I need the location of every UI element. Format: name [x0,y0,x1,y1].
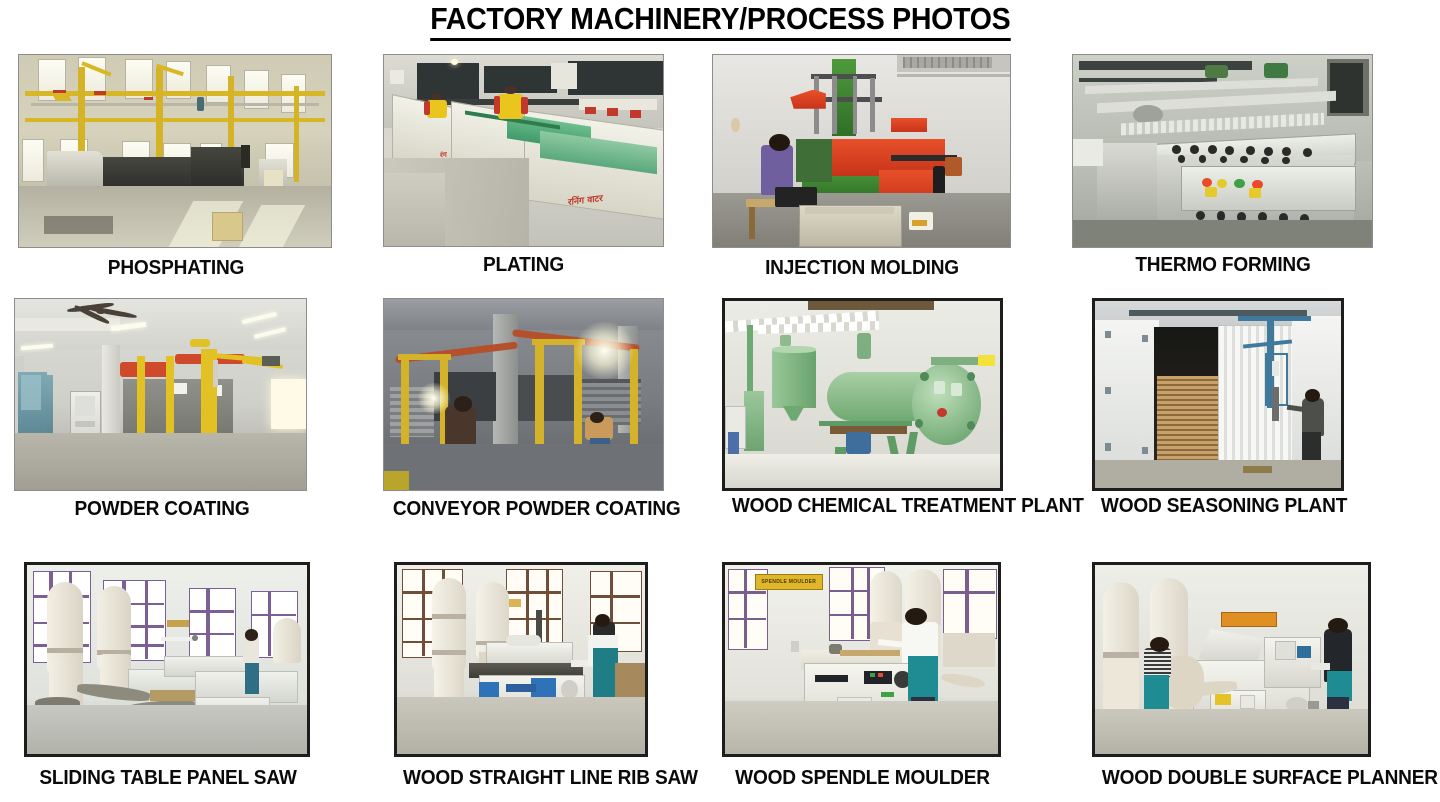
caption-conveyor-powder-coating: CONVEYOR POWDER COATING [393,497,654,521]
gallery-item-wood-chemical-treatment-plant[interactable]: WOOD CHEMICAL TREATMENT PLANT [722,298,1003,538]
caption-plating: PLATING [393,253,654,277]
caption-sliding-table-panel-saw: SLIDING TABLE PANEL SAW [34,766,302,790]
gallery-item-powder-coating[interactable]: POWDER COATING [14,298,310,538]
photo-plating[interactable]: रंग गर्म रनिंग वाटर [383,54,664,247]
photo-injection-molding[interactable] [712,54,1011,248]
caption-wood-spendle-moulder: WOOD SPENDLE MOULDER [732,766,993,790]
photo-powder-coating[interactable] [14,298,307,491]
photo-grid: PHOSPHATING [0,46,1440,800]
photo-wood-seasoning-plant[interactable] [1092,298,1344,491]
photo-wood-chemical-treatment-plant[interactable] [722,298,1003,491]
gallery-item-sliding-table-panel-saw[interactable]: SLIDING TABLE PANEL SAW [24,562,312,802]
caption-powder-coating: POWDER COATING [24,497,299,521]
gallery-item-wood-spendle-moulder[interactable]: SPENDLE MOULDER [722,562,1003,802]
caption-wood-seasoning-plant: WOOD SEASONING PLANT [1101,494,1338,518]
gallery-item-wood-straight-line-rib-saw[interactable]: WOOD STRAIGHT LINE RIB SAW [394,562,650,802]
caption-wood-double-surface-planner: WOOD DOUBLE SURFACE PLANNER [1102,766,1363,790]
photo-wood-straight-line-rib-saw[interactable] [394,562,648,757]
page-title: FACTORY MACHINERY/PROCESS PHOTOS [0,2,1440,41]
caption-thermo-forming: THERMO FORMING [1083,253,1364,277]
gallery-item-wood-double-surface-planner[interactable]: WOOD DOUBLE SURFACE PLANNER [1092,562,1373,802]
caption-wood-chemical-treatment-plant: WOOD CHEMICAL TREATMENT PLANT [732,494,993,518]
photo-sliding-table-panel-saw[interactable] [24,562,310,757]
page-title-text: FACTORY MACHINERY/PROCESS PHOTOS [430,2,1010,41]
photo-thermo-forming[interactable] [1072,54,1373,248]
photo-wood-spendle-moulder[interactable]: SPENDLE MOULDER [722,562,1001,757]
photo-gallery-page: FACTORY MACHINERY/PROCESS PHOTOS [0,0,1440,800]
gallery-item-injection-molding[interactable]: INJECTION MOLDING [712,54,1012,294]
gallery-item-wood-seasoning-plant[interactable]: WOOD SEASONING PLANT [1092,298,1347,538]
caption-wood-straight-line-rib-saw: WOOD STRAIGHT LINE RIB SAW [403,766,641,790]
photo-wood-double-surface-planner[interactable] [1092,562,1371,757]
gallery-item-thermo-forming[interactable]: THERMO FORMING [1072,54,1374,294]
caption-injection-molding: INJECTION MOLDING [723,256,1002,280]
gallery-item-phosphating[interactable]: PHOSPHATING [18,54,334,294]
photo-phosphating[interactable] [18,54,332,248]
gallery-item-plating[interactable]: रंग गर्म रनिंग वाटर PLATING [383,54,664,294]
caption-phosphating: PHOSPHATING [29,256,323,280]
photo-conveyor-powder-coating[interactable] [383,298,664,491]
wall-sign-spendle-moulder: SPENDLE MOULDER [755,574,823,589]
gallery-item-conveyor-powder-coating[interactable]: CONVEYOR POWDER COATING [383,298,664,538]
